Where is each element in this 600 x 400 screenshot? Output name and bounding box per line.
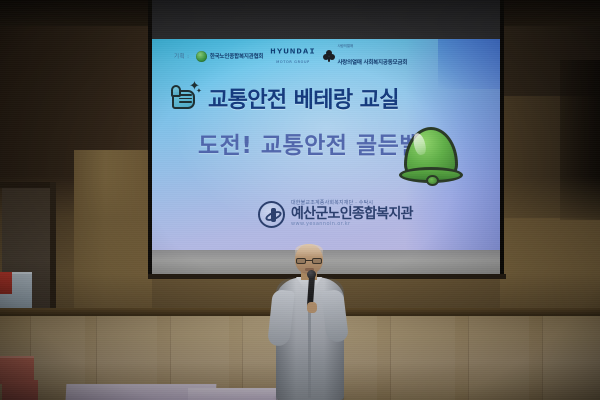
- sponsor-name: 한국노인종합복지관협회: [210, 52, 263, 60]
- glasses-icon: [296, 258, 322, 264]
- slide-title: 교통안전 베테랑 교실: [208, 82, 399, 114]
- organization-text: 대한불교조계종사회복지재단 · 수탁시 예산군노인종합복지관 www.yesan…: [291, 201, 413, 227]
- sponsor-lead-label: 기획 :: [174, 52, 189, 60]
- salmon-box-lower: [2, 380, 38, 400]
- organization-logo: 대한불교조계종사회복지재단 · 수탁시 예산군노인종합복지관 www.yesan…: [258, 201, 413, 228]
- speaker-hand: [307, 302, 317, 313]
- sponsor-community-chest: 사랑의열매 사랑의열매 사회복지공동모금회: [323, 44, 407, 68]
- sponsor-sub-label: 사랑의열매: [337, 44, 407, 49]
- sponsor-name: 사랑의열매 사회복지공동모금회: [337, 60, 407, 66]
- photo-scene: 기획 : 한국노인종합복지관협회 HYUNDAI MOTOR GROUP 사랑의…: [0, 0, 600, 400]
- slide-subtitle: 도전! 교통안전 골든벨: [198, 126, 421, 160]
- yesan-senior-welfare-center-logo-icon: [258, 201, 285, 228]
- lavender-mat-second: [188, 388, 278, 400]
- organization-parent-line: 대한불교조계종사회복지재단 · 수탁시: [291, 201, 413, 206]
- organization-name: 예산군노인종합복지관: [291, 207, 413, 222]
- slide-title-row: ✦ ✦ 교통안전 베테랑 교실: [166, 81, 399, 115]
- alcove-side-wall: [50, 182, 56, 322]
- hyundai-wordmark-icon: HYUNDAI: [270, 49, 316, 56]
- sponsor-name-block: 사랑의열매 사랑의열매 사회복지공동모금회: [337, 44, 407, 68]
- green-bell-icon: [400, 121, 462, 193]
- screen-top-dark-band: [152, 0, 500, 39]
- green-circle-logo-icon: [196, 51, 207, 62]
- sponsor-row: 기획 : 한국노인종합복지관협회 HYUNDAI MOTOR GROUP 사랑의…: [174, 45, 486, 67]
- cabinet-red-panel: [0, 272, 12, 294]
- organization-url: www.yesannoin.or.kr: [291, 222, 413, 227]
- sponsor-senior-welfare-association: 한국노인종합복지관협회: [196, 51, 263, 62]
- hyundai-sub-label: MOTOR GROUP: [276, 61, 310, 64]
- presentation-slide: 기획 : 한국노인종합복지관협회 HYUNDAI MOTOR GROUP 사랑의…: [152, 39, 500, 250]
- sponsor-hyundai: HYUNDAI MOTOR GROUP: [270, 48, 316, 64]
- alcove-frame: [0, 182, 54, 188]
- clover-trefoil-icon: [323, 50, 335, 62]
- speaker-figure: [268, 244, 352, 400]
- thumbs-up-document-icon: ✦ ✦: [166, 81, 200, 115]
